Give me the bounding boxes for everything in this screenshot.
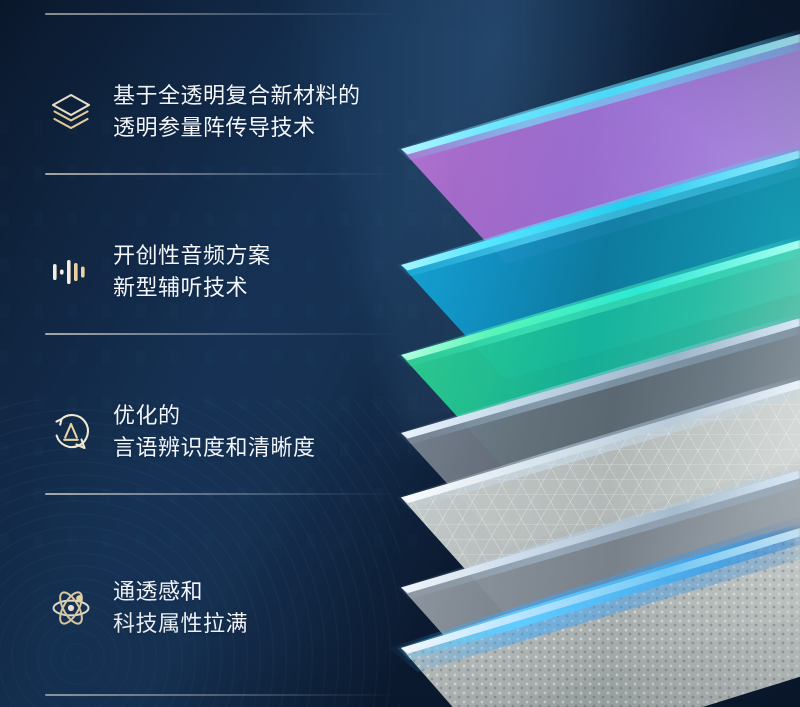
- feature-line-2: 透明参量阵传导技术: [113, 112, 361, 144]
- layer-green: [380, 240, 800, 470]
- feature-line-1: 基于全透明复合新材料的: [113, 80, 361, 112]
- feature-line-2: 科技属性拉满: [113, 608, 248, 640]
- divider-bottom: [45, 694, 400, 696]
- layer-purple-glow: [380, 34, 800, 264]
- divider-1: [45, 173, 400, 175]
- feature-list: 基于全透明复合新材料的 透明参量阵传导技术 开创性音频方案 新型辅听技术: [0, 0, 430, 707]
- triangular-mesh-pattern: [380, 380, 800, 615]
- layers-icon: [45, 86, 97, 138]
- layer-purple: [380, 34, 800, 264]
- layer-cyan-glow: [380, 150, 800, 380]
- feature-item-audio[interactable]: 开创性音频方案 新型辅听技术: [45, 222, 425, 322]
- layer-cyan-face: [380, 150, 800, 380]
- layer-bottom-edge: [380, 528, 800, 707]
- feature-text-audio: 开创性音频方案 新型辅听技术: [113, 240, 271, 304]
- layer-bottom-outer-glow: [380, 528, 800, 707]
- feature-line-2: 言语辨识度和清晰度: [113, 432, 316, 464]
- feature-text-tech: 通透感和 科技属性拉满: [113, 576, 248, 640]
- layer-green-glow: [380, 240, 800, 470]
- layer-mid-grey-glow: [380, 470, 800, 705]
- feature-item-material[interactable]: 基于全透明复合新材料的 透明参量阵传导技术: [45, 62, 425, 162]
- layer-dark-grey-edge: [380, 318, 800, 548]
- layer-purple-edge: [380, 34, 800, 264]
- layer-mid-grey-edge: [380, 470, 800, 705]
- atom-icon: [45, 582, 97, 634]
- layer-dark-grey-glow: [380, 318, 800, 548]
- feature-line-1: 优化的: [113, 400, 316, 432]
- feature-item-tech[interactable]: 通透感和 科技属性拉满: [45, 558, 425, 658]
- feature-line-1: 开创性音频方案: [113, 240, 271, 272]
- layer-dark-grey: [380, 318, 800, 548]
- feature-text-speech: 优化的 言语辨识度和清晰度: [113, 400, 316, 464]
- audio-waveform-icon: [45, 246, 97, 298]
- layer-bottom-glow: [380, 528, 800, 707]
- layer-green-edge: [380, 240, 800, 470]
- divider-2: [45, 333, 400, 335]
- feature-line-1: 通透感和: [113, 576, 248, 608]
- speech-bubble-a-icon: [45, 406, 97, 458]
- divider-top: [45, 13, 400, 15]
- background-code-blocks-texture: [0, 120, 470, 550]
- background-stage: 基于全透明复合新材料的 透明参量阵传导技术 开创性音频方案 新型辅听技术: [0, 0, 800, 707]
- divider-3: [45, 493, 400, 495]
- background-light-sheen: [268, 0, 800, 442]
- feature-line-2: 新型辅听技术: [113, 272, 271, 304]
- layer-purple-face: [380, 34, 800, 264]
- exploded-material-layers: [380, 0, 800, 707]
- vignette-overlay: [0, 0, 800, 707]
- layer-light-grey-mesh: [380, 380, 800, 615]
- dot-matrix-pattern: [380, 528, 800, 707]
- layer-dark-grey-face: [380, 318, 800, 548]
- layer-light-grey-face: [380, 380, 800, 615]
- feature-item-speech[interactable]: 优化的 言语辨识度和清晰度: [45, 382, 425, 482]
- layer-green-face: [380, 240, 800, 470]
- layer-bottom-face: [380, 528, 800, 707]
- layer-cyan-edge: [380, 150, 800, 380]
- feature-text-material: 基于全透明复合新材料的 透明参量阵传导技术: [113, 80, 361, 144]
- layer-cyan: [380, 150, 800, 380]
- layer-mid-grey: [380, 470, 800, 705]
- layer-light-grey-edge: [380, 380, 800, 615]
- background-ripple-texture: [0, 400, 400, 707]
- layer-light-grey-glow: [380, 380, 800, 615]
- layer-bottom-dot-mesh: [380, 528, 800, 707]
- layer-mid-grey-face: [380, 470, 800, 705]
